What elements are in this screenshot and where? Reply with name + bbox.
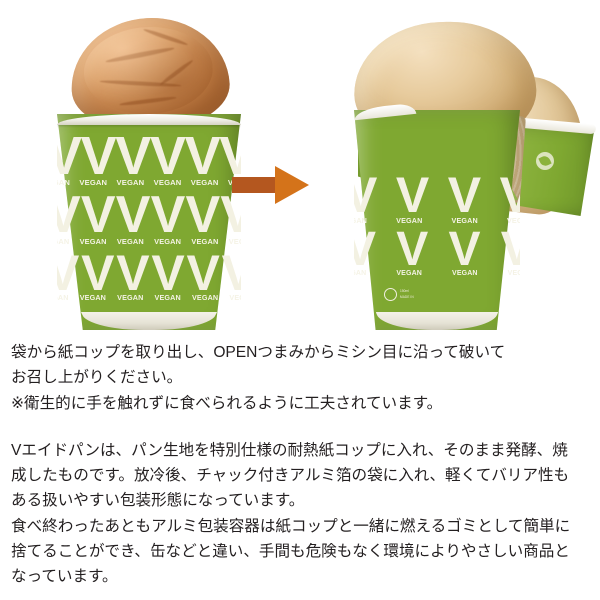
vegan-word: VEGAN [80, 237, 107, 246]
cup-right-band-2: V V V V VEGAN VEGAN VEGAN VEGAN [354, 230, 520, 282]
vegan-word: VEGAN [229, 293, 241, 302]
v-glyph: V [116, 252, 146, 294]
bread-crease [100, 79, 182, 87]
v-glyph: V [449, 230, 478, 270]
cup-left-band-2: V V V V V V VEGAN VEGAN VEGAN VEGAN VEGA… [57, 194, 241, 250]
vegan-word: VEGAN [57, 178, 70, 187]
description-line: 成したものです。放冷後、チャック付きアルミ箔の袋に入れ、軽くてバリア性も [11, 463, 589, 488]
instructions-line: ※衛生的に手を触れずに食べられるように工夫されています。 [11, 391, 589, 416]
v-glyph: V [501, 230, 520, 270]
cup-bottom-print-volume: 150ml [400, 289, 409, 293]
vegan-word: VEGAN [57, 293, 69, 302]
vegan-word: VEGAN [154, 237, 181, 246]
vegan-word: VEGAN [354, 270, 366, 277]
vegan-word: VEGAN [191, 237, 218, 246]
description-line: なっています。 [11, 564, 589, 589]
v-glyph: V [396, 174, 426, 216]
description-line: Vエイドパンは、パン生地を特別仕様の耐熱紙コップに入れ、そのまま発酵、焼 [11, 438, 589, 463]
description-line: 捨てることができ、缶などと違い、手間も危険もなく環境によりやさしい商品と [11, 539, 589, 564]
vegan-text-row: VEGAN VEGAN VEGAN VEGAN VEGAN VEGAN [57, 293, 241, 302]
vegan-word: VEGAN [155, 293, 181, 302]
product-figure: V V V V V V VEGAN VEGAN VEGAN VEGAN VEGA… [0, 0, 600, 335]
v-pattern-row: V V V V V V [57, 134, 241, 179]
vegan-text-row: VEGAN VEGAN VEGAN VEGAN VEGAN VEGAN [57, 237, 241, 246]
instructions-line: 袋から紙コップを取り出し、OPENつまみからミシン目に沿って破いて [11, 340, 589, 365]
vegan-word: VEGAN [452, 270, 478, 277]
copy-area: 袋から紙コップを取り出し、OPENつまみからミシン目に沿って破いて お召し上がり… [11, 340, 589, 589]
cup-left-band-1: V V V V V V VEGAN VEGAN VEGAN VEGAN VEGA… [57, 134, 241, 190]
arrow-head-icon [275, 166, 309, 204]
v-glyph: V [57, 134, 79, 179]
cup-right-body: V V V V VEGAN VEGAN VEGAN VEGAN V V V [354, 110, 520, 330]
cup-left-unopened: V V V V V V VEGAN VEGAN VEGAN VEGAN VEGA… [57, 18, 241, 330]
vegan-word: VEGAN [354, 216, 367, 225]
v-glyph: V [151, 194, 183, 238]
vegan-word: VEGAN [229, 237, 241, 246]
vegan-word: VEGAN [507, 216, 520, 225]
instructions-line: お召し上がりください。 [11, 365, 589, 390]
vegan-text-row: VEGAN VEGAN VEGAN VEGAN [354, 216, 520, 225]
vegan-word: VEGAN [508, 270, 520, 277]
cup-left-band-3: V V V V V V VEGAN VEGAN VEGAN VEGAN VEGA… [57, 252, 241, 308]
v-glyph: V [57, 252, 76, 294]
vegan-word: VEGAN [452, 216, 478, 225]
v-glyph: V [151, 252, 181, 294]
vegan-text-row: VEGAN VEGAN VEGAN VEGAN VEGAN VEGAN [57, 178, 241, 187]
v-glyph: V [187, 252, 217, 294]
v-glyph: V [57, 194, 78, 238]
v-glyph: V [150, 134, 183, 179]
v-glyph: V [81, 194, 113, 238]
bread-crease [120, 95, 177, 105]
v-glyph: V [354, 230, 373, 270]
cup-bottom-print-origin: MADE IN [400, 295, 414, 299]
vegan-word: VEGAN [80, 293, 106, 302]
description-line: ある扱いやすい包装形態になっています。 [11, 488, 589, 513]
process-arrow [232, 166, 309, 204]
vegan-word: VEGAN [191, 178, 219, 187]
v-glyph: V [186, 194, 218, 238]
v-glyph: V [115, 134, 148, 179]
bread-crease [105, 46, 174, 64]
v-glyph: V [448, 174, 478, 216]
description-paragraph: Vエイドパンは、パン生地を特別仕様の耐熱紙コップに入れ、そのまま発酵、焼 成した… [11, 438, 589, 590]
v-glyph: V [500, 174, 520, 216]
vegan-word: VEGAN [57, 237, 69, 246]
v-pattern-row: V V V V V V [57, 252, 241, 294]
bread-crease [159, 58, 194, 86]
vegan-word: VEGAN [396, 216, 422, 225]
cup-right-opened: V V V V VEGAN VEGAN VEGAN VEGAN V V V [330, 14, 592, 330]
v-glyph: V [354, 174, 374, 216]
vegan-word: VEGAN [396, 270, 422, 277]
cup-left-body: V V V V V V VEGAN VEGAN VEGAN VEGAN VEGA… [57, 114, 241, 330]
vegan-word: VEGAN [192, 293, 218, 302]
vegan-word: VEGAN [117, 178, 145, 187]
arrow-shaft [232, 177, 280, 193]
v-glyph: V [396, 230, 425, 270]
description-line: 食べ終わったあともアルミ包装容器は紙コップと一緒に燃えるゴミとして簡単に [11, 514, 589, 539]
instructions-paragraph: 袋から紙コップを取り出し、OPENつまみからミシン目に沿って破いて お召し上がり… [11, 340, 589, 416]
vegan-word: VEGAN [117, 237, 144, 246]
vegan-word: VEGAN [117, 293, 143, 302]
v-glyph: V [116, 194, 148, 238]
cup-right-band-1: V V V V VEGAN VEGAN VEGAN VEGAN [354, 174, 520, 226]
vegan-word: VEGAN [79, 178, 107, 187]
v-glyph: V [81, 134, 114, 179]
bread-crease [142, 27, 188, 46]
v-pattern-row: V V V V [354, 230, 520, 270]
v-pattern-row: V V V V V V [57, 194, 241, 238]
vegan-text-row: VEGAN VEGAN VEGAN VEGAN [354, 270, 520, 277]
v-glyph: V [81, 252, 111, 294]
v-pattern-row: V V V V [354, 174, 520, 216]
v-glyph: V [185, 134, 218, 179]
vegan-word: VEGAN [154, 178, 182, 187]
recycle-badge-icon [384, 288, 397, 301]
v-glyph: V [222, 252, 241, 294]
